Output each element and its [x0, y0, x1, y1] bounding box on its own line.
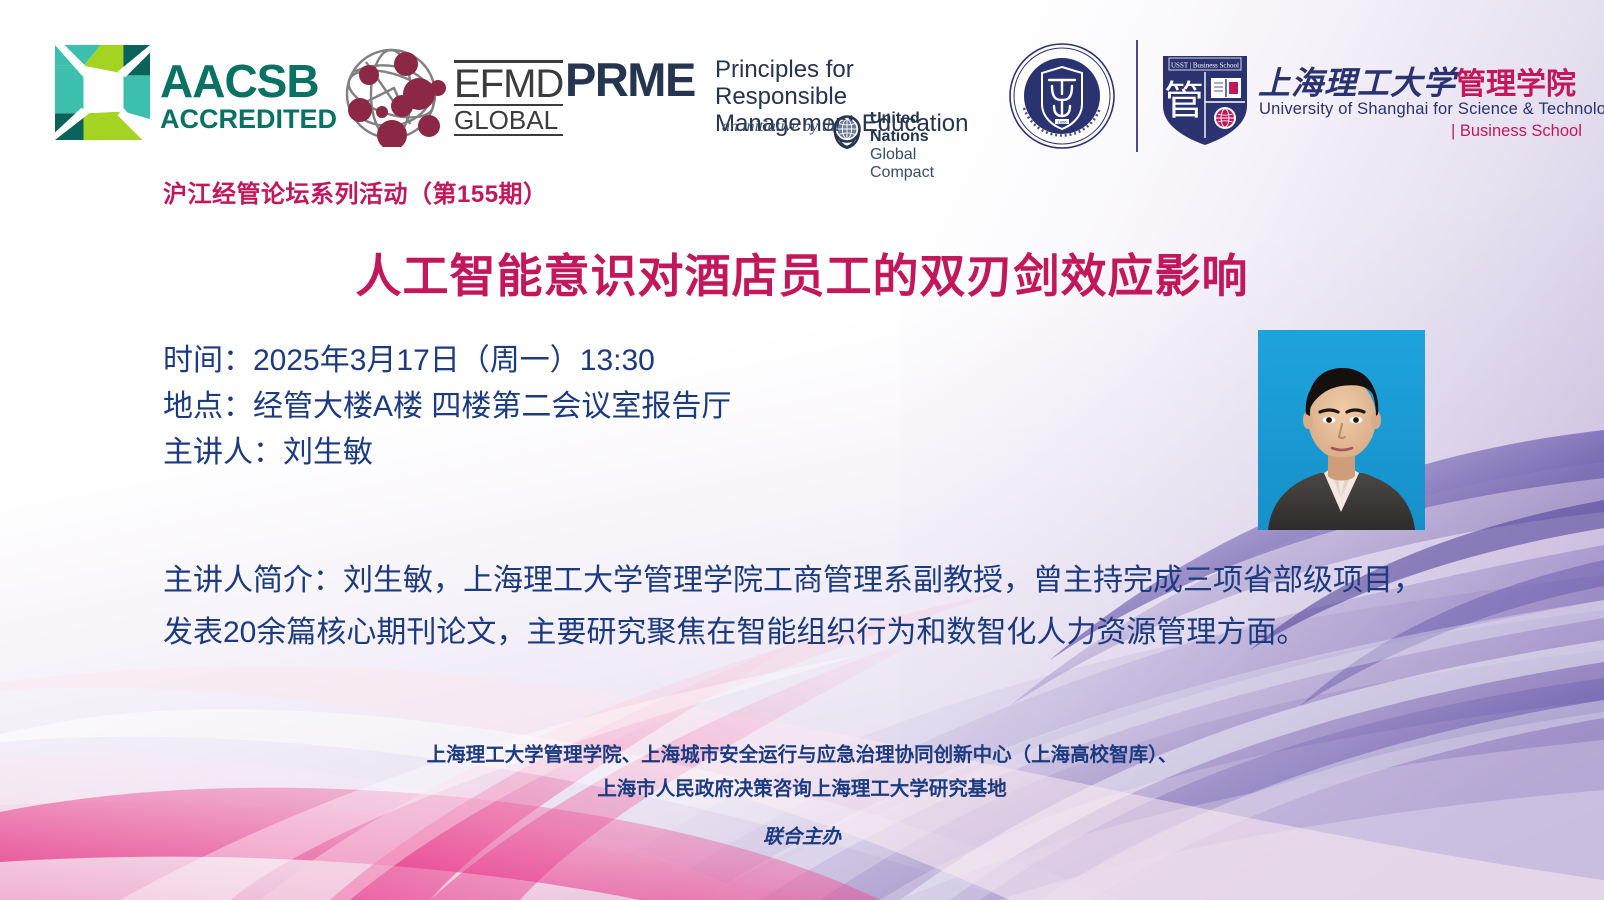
- un-global-compact-text: United Nations Global Compact: [870, 110, 975, 182]
- shield-banner-text: USST | Business School: [1171, 62, 1239, 70]
- page-title: 人工智能意识对酒店员工的双刃剑效应影响: [0, 240, 1604, 306]
- business-school-english-name: University of Shanghai for Science & Tec…: [1259, 100, 1604, 119]
- usst-business-school-logo: USST | Business School 管: [1155, 48, 1495, 153]
- un-global-compact-icon: [827, 110, 867, 150]
- event-poster: AACSB ACCREDITED: [0, 0, 1604, 900]
- logo-divider: [1136, 40, 1138, 152]
- business-school-chinese-name: 上海理工大学管理学院: [1258, 58, 1576, 104]
- event-details: 时间：2025年3月17日（周一）13:30 地点：经管大楼A楼 四楼第二会议室…: [163, 338, 731, 476]
- prme-initiative-text: an initiative by the: [722, 118, 842, 136]
- prme-logo: PRME Principles for Responsible Manageme…: [565, 48, 975, 148]
- efmd-network-icon: [336, 42, 446, 147]
- svg-text:1906: 1906: [1058, 119, 1068, 124]
- bio-line-2: 发表20余篇核心期刊论文，主要研究聚焦在智能组织行为和数智化人力资源管理方面。: [163, 607, 1433, 659]
- speaker-photo: [1258, 330, 1425, 530]
- usst-seal-icon: 1906: [1008, 42, 1116, 150]
- series-label: 沪江经管论坛系列活动（第155期）: [163, 174, 548, 209]
- business-school-shield-icon: USST | Business School 管: [1155, 48, 1255, 148]
- aacsb-subtitle: ACCREDITED: [160, 104, 337, 134]
- prme-name: PRME: [565, 56, 695, 103]
- shield-glyph: 管: [1164, 78, 1204, 124]
- efmd-global-logo: EFMD GLOBAL: [336, 42, 551, 147]
- bs-cn-university: 上海理工大学: [1258, 65, 1456, 101]
- bio-line-1: 主讲人简介：刘生敏，上海理工大学管理学院工商管理系副教授，曾主持完成三项省部级项…: [163, 555, 1433, 607]
- organizer-line-1: 上海理工大学管理学院、上海城市安全运行与应急治理协同创新中心（上海高校智库）、: [0, 738, 1604, 772]
- aacsb-mark-icon: [55, 45, 150, 140]
- efmd-name: EFMD: [454, 60, 563, 106]
- speaker-portrait-image: [1258, 330, 1425, 530]
- event-time: 时间：2025年3月17日（周一）13:30: [163, 338, 731, 384]
- logo-bar: AACSB ACCREDITED: [0, 0, 1604, 160]
- aacsb-name: AACSB: [160, 58, 337, 104]
- un-line-1: United Nations: [870, 110, 975, 146]
- aacsb-wordmark: AACSB ACCREDITED: [160, 58, 337, 134]
- efmd-subtitle: GLOBAL: [454, 106, 563, 136]
- event-speaker: 主讲人：刘生敏: [163, 430, 731, 476]
- joint-host-label: 联合主办: [0, 820, 1604, 854]
- business-school-english-school: | Business School: [1451, 122, 1582, 141]
- organizer-line-2: 上海市人民政府决策咨询上海理工大学研究基地: [0, 772, 1604, 806]
- speaker-bio: 主讲人简介：刘生敏，上海理工大学管理学院工商管理系副教授，曾主持完成三项省部级项…: [163, 555, 1433, 659]
- un-line-2: Global Compact: [870, 146, 975, 182]
- efmd-wordmark: EFMD GLOBAL: [454, 60, 563, 136]
- event-location: 地点：经管大楼A楼 四楼第二会议室报告厅: [163, 384, 731, 430]
- aacsb-accredited-logo: AACSB ACCREDITED: [55, 40, 325, 145]
- organizers: 上海理工大学管理学院、上海城市安全运行与应急治理协同创新中心（上海高校智库）、 …: [0, 738, 1604, 854]
- bs-cn-school: 管理学院: [1456, 68, 1576, 101]
